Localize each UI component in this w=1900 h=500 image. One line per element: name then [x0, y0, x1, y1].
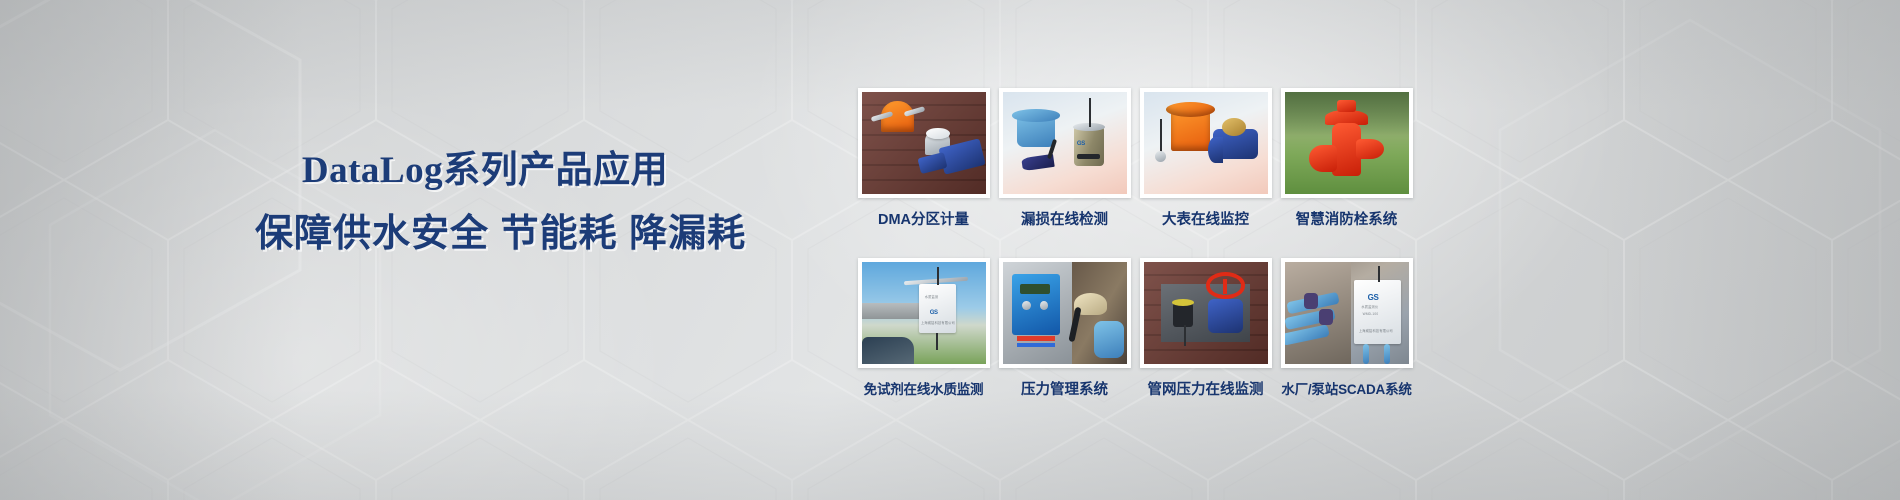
banner-root: DataLog系列产品应用 保障供水安全 节能耗 降漏耗 DMA分区计量 [0, 0, 1900, 500]
card-photo-frame [1140, 88, 1272, 198]
product-card-grid: DMA分区计量 GS 漏损在线检测 [853, 88, 1417, 416]
card-caption: 漏损在线检测 [1021, 211, 1108, 229]
photo-large-meter-monitor [1144, 92, 1268, 194]
photo-scada-system: GS 水质监测仪 WMD-100 上海威铭科技有限公司 [1285, 262, 1409, 364]
card-caption: 水厂/泵站SCADA系统 [1281, 381, 1411, 399]
product-card[interactable]: DMA分区计量 [853, 88, 994, 246]
product-card[interactable]: 管网压力在线监测 [1135, 258, 1276, 416]
card-caption: 管网压力在线监测 [1148, 381, 1264, 399]
product-card[interactable]: 智慧消防栓系统 [1276, 88, 1417, 246]
card-photo-frame [1281, 88, 1413, 198]
card-caption: 大表在线监控 [1162, 211, 1249, 229]
product-card[interactable]: 压力管理系统 [994, 258, 1135, 416]
card-caption: 智慧消防栓系统 [1296, 211, 1398, 229]
card-photo-frame: GS 水质监测仪 WMD-100 上海威铭科技有限公司 [1281, 258, 1413, 368]
card-photo-frame [999, 258, 1131, 368]
headline-line-1: DataLog系列产品应用 [255, 148, 715, 194]
photo-pressure-management [1003, 262, 1127, 364]
photo-reagentless-quality: 水质监测 GS 上海威铭科技有限公司 [862, 262, 986, 364]
photo-leak-detection: GS [1003, 92, 1127, 194]
card-caption: DMA分区计量 [878, 211, 969, 229]
product-card[interactable]: GS 漏损在线检测 [994, 88, 1135, 246]
headline-block: DataLog系列产品应用 保障供水安全 节能耗 降漏耗 [255, 148, 715, 258]
photo-smart-hydrant [1285, 92, 1409, 194]
card-caption: 免试剂在线水质监测 [864, 381, 984, 399]
card-photo-frame [858, 88, 990, 198]
card-photo-frame: 水质监测 GS 上海威铭科技有限公司 [858, 258, 990, 368]
product-card[interactable]: 大表在线监控 [1135, 88, 1276, 246]
card-caption: 压力管理系统 [1021, 381, 1108, 399]
headline-line-2: 保障供水安全 节能耗 降漏耗 [255, 210, 715, 258]
photo-dma-metering [862, 92, 986, 194]
product-card[interactable]: GS 水质监测仪 WMD-100 上海威铭科技有限公司 水厂/泵站SCADA系统 [1276, 258, 1417, 416]
photo-pipe-pressure-monitor [1144, 262, 1268, 364]
card-photo-frame: GS [999, 88, 1131, 198]
product-card[interactable]: 水质监测 GS 上海威铭科技有限公司 免试剂在线水质监测 [853, 258, 994, 416]
card-photo-frame [1140, 258, 1272, 368]
